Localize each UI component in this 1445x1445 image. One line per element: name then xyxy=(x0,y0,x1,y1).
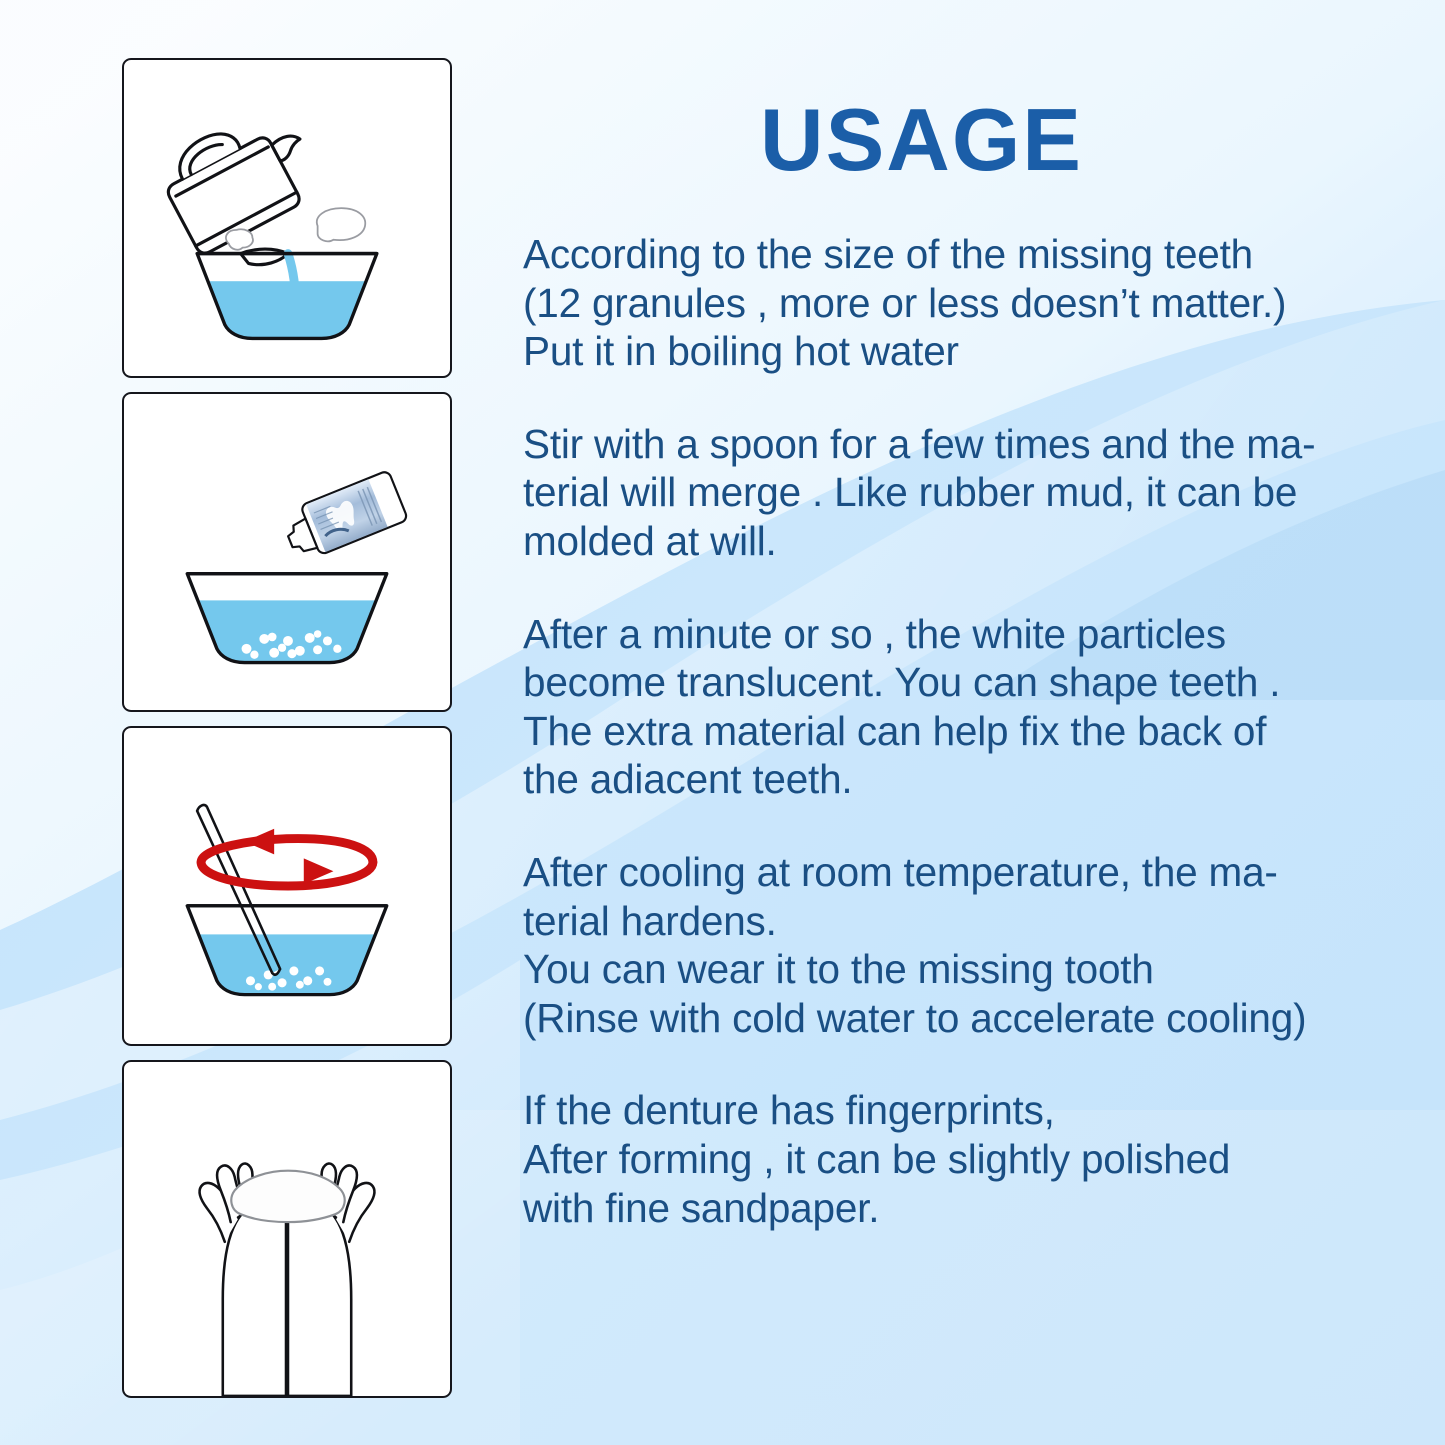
step-2-line-3: molded at will. xyxy=(523,517,1368,566)
instruction-text-column: USAGE According to the size of the missi… xyxy=(523,96,1368,1232)
step-4-line-4: (Rinse with cold water to accelerate coo… xyxy=(523,994,1368,1043)
step-1-line-1: According to the size of the missing tee… xyxy=(523,230,1368,279)
final-note-line-1: If the denture has fingerprints, xyxy=(523,1086,1368,1135)
illustration-panel-column xyxy=(122,58,452,1398)
stirring-drawing xyxy=(124,728,450,1044)
step-4-illustration-hands-molding xyxy=(122,1060,452,1398)
step-3-paragraph: After a minute or so , the white particl… xyxy=(523,610,1368,804)
step-4-paragraph: After cooling at room temperature, the m… xyxy=(523,848,1368,1042)
red-circular-arrow xyxy=(201,829,373,886)
step-2-line-1: Stir with a spoon for a few times and th… xyxy=(523,420,1368,469)
step-4-line-1: After cooling at room temperature, the m… xyxy=(523,848,1368,897)
right-hand xyxy=(288,1200,351,1396)
step-2-line-2: terial will merge . Like rubber mud, it … xyxy=(523,468,1368,517)
bowl-with-water-stirred xyxy=(173,906,410,1014)
page-title: USAGE xyxy=(523,96,1368,184)
granule-bottle-drawing xyxy=(124,394,450,710)
final-note-paragraph: If the denture has fingerprints, After f… xyxy=(523,1086,1368,1232)
step-3-illustration-stirring xyxy=(122,726,452,1046)
step-3-line-1: After a minute or so , the white particl… xyxy=(523,610,1368,659)
bowl-with-granules xyxy=(173,574,410,680)
step-4-line-2: terial hardens. xyxy=(523,897,1368,946)
usage-instruction-poster: USAGE According to the size of the missi… xyxy=(0,0,1445,1445)
final-note-line-2: After forming , it can be slightly polis… xyxy=(523,1135,1368,1184)
final-note-line-3: with fine sandpaper. xyxy=(523,1184,1368,1233)
step-1-line-3: Put it in boiling hot water xyxy=(523,327,1368,376)
step-1-line-2: (12 granules , more or less doesn’t matt… xyxy=(523,279,1368,328)
step-2-paragraph: Stir with a spoon for a few times and th… xyxy=(523,420,1368,566)
hands-molding-drawing xyxy=(124,1062,450,1396)
steam-puff-left xyxy=(226,229,253,249)
step-1-paragraph: According to the size of the missing tee… xyxy=(523,230,1368,376)
step-3-line-3: The extra material can help fix the back… xyxy=(523,707,1368,756)
granule-bottle xyxy=(279,470,408,563)
step-2-illustration-granule-bottle xyxy=(122,392,452,712)
steam-puff-right xyxy=(317,208,365,241)
step-1-illustration-kettle-pouring xyxy=(122,58,452,378)
step-3-line-4: the adiacent teeth. xyxy=(523,755,1368,804)
step-4-line-3: You can wear it to the missing tooth xyxy=(523,945,1368,994)
left-hand xyxy=(223,1200,286,1396)
kettle-pour-drawing xyxy=(124,60,450,376)
step-3-line-2: become translucent. You can shape teeth … xyxy=(523,658,1368,707)
